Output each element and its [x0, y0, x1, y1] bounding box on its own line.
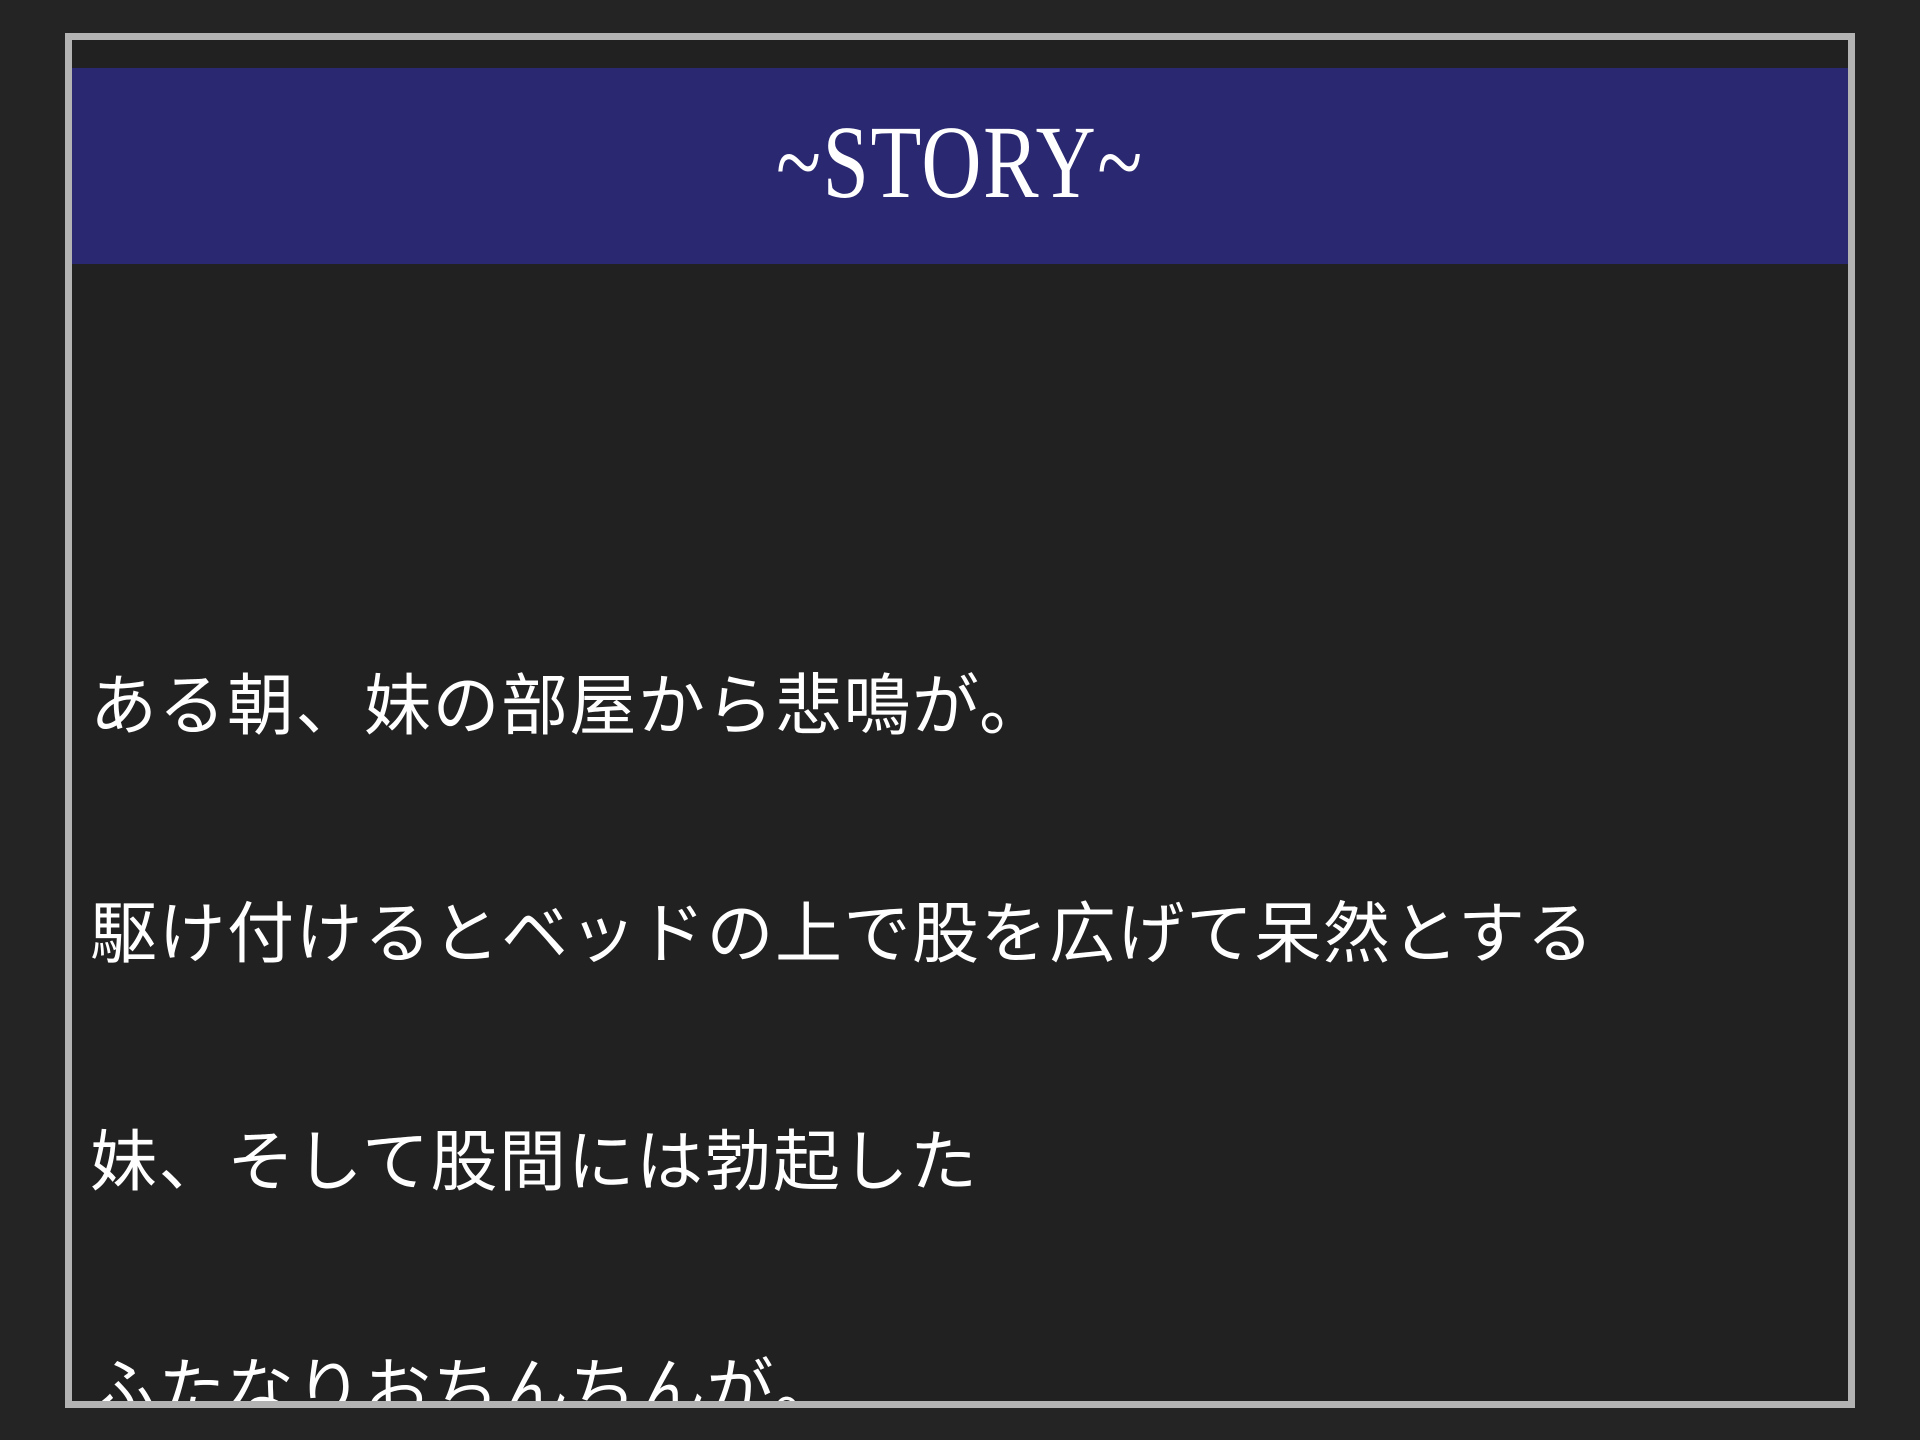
page-title: ~STORY~	[776, 111, 1144, 221]
story-line: ある朝、妹の部屋から悲鳴が。	[90, 668, 1840, 744]
story-paragraph: ある朝、妹の部屋から悲鳴が。 駆け付けるとベッドの上で股を広げて呆然とする 妹、…	[90, 516, 1840, 1401]
story-slide: ~STORY~ ある朝、妹の部屋から悲鳴が。 駆け付けるとベッドの上で股を広げて…	[65, 33, 1855, 1408]
story-line: ふたなりおちんちんが。	[90, 1352, 1840, 1401]
story-line: 駆け付けるとベッドの上で股を広げて呆然とする	[90, 896, 1840, 972]
story-title-banner: ~STORY~	[72, 68, 1848, 264]
story-body: ある朝、妹の部屋から悲鳴が。 駆け付けるとベッドの上で股を広げて呆然とする 妹、…	[90, 288, 1840, 1401]
slide-canvas: ~STORY~ ある朝、妹の部屋から悲鳴が。 駆け付けるとベッドの上で股を広げて…	[72, 40, 1848, 1401]
story-line: 妹、そして股間には勃起した	[90, 1124, 1840, 1200]
